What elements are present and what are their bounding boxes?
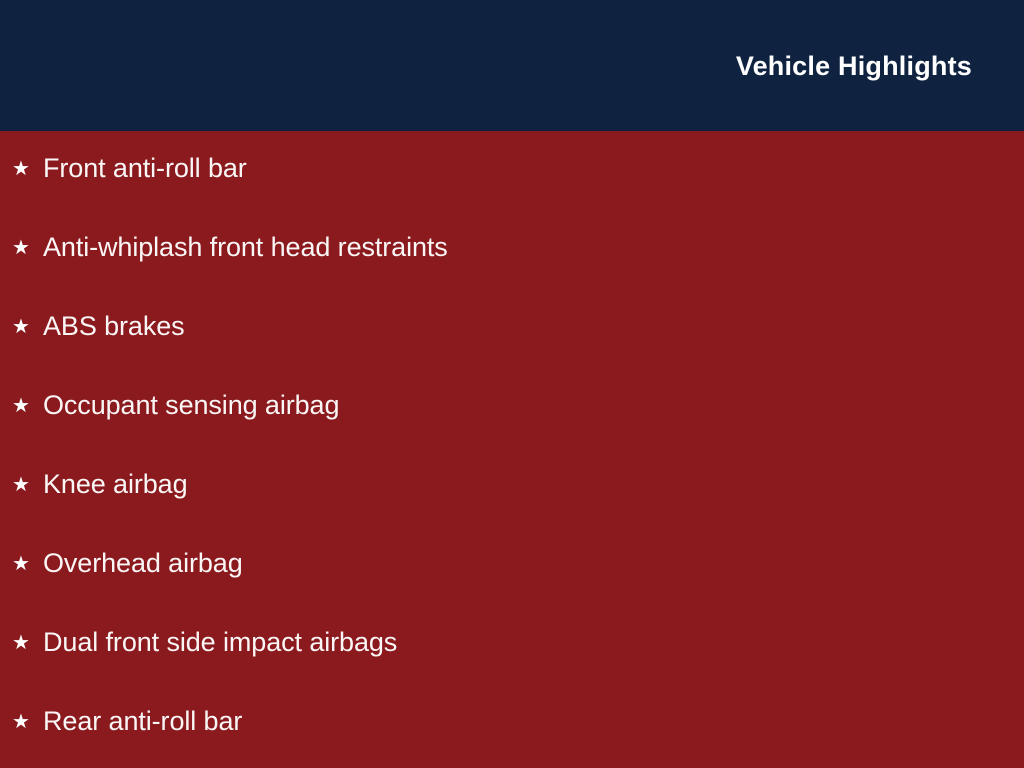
list-item: ★Front anti-roll bar <box>0 150 1010 188</box>
star-bullet-icon: ★ <box>0 712 43 732</box>
slide-canvas: Vehicle Highlights ★Front anti-roll bar★… <box>0 0 1024 768</box>
list-item: ★Rear anti-roll bar <box>0 703 1010 741</box>
star-bullet-icon: ★ <box>0 159 43 179</box>
list-item-label: Front anti-roll bar <box>43 154 247 184</box>
star-bullet-icon: ★ <box>0 475 43 495</box>
list-item: ★ABS brakes <box>0 308 1010 346</box>
list-item-label: ABS brakes <box>43 312 185 342</box>
list-item-label: Anti-whiplash front head restraints <box>43 233 448 263</box>
slide-header-band: Vehicle Highlights <box>0 0 1024 131</box>
star-bullet-icon: ★ <box>0 633 43 653</box>
list-item: ★Occupant sensing airbag <box>0 387 1010 425</box>
list-item: ★Anti-whiplash front head restraints <box>0 229 1010 267</box>
star-bullet-icon: ★ <box>0 554 43 574</box>
list-item: ★Knee airbag <box>0 466 1010 504</box>
list-item-label: Knee airbag <box>43 470 188 500</box>
star-bullet-icon: ★ <box>0 317 43 337</box>
slide-body: ★Front anti-roll bar★Anti-whiplash front… <box>0 131 1024 768</box>
list-item-label: Overhead airbag <box>43 549 243 579</box>
star-bullet-icon: ★ <box>0 238 43 258</box>
list-item-label: Occupant sensing airbag <box>43 391 339 421</box>
star-bullet-icon: ★ <box>0 396 43 416</box>
page-title: Vehicle Highlights <box>736 53 972 80</box>
list-item-label: Dual front side impact airbags <box>43 628 397 658</box>
list-item: ★Overhead airbag <box>0 545 1010 583</box>
list-item-label: Rear anti-roll bar <box>43 707 242 737</box>
list-item: ★Dual front side impact airbags <box>0 624 1010 662</box>
